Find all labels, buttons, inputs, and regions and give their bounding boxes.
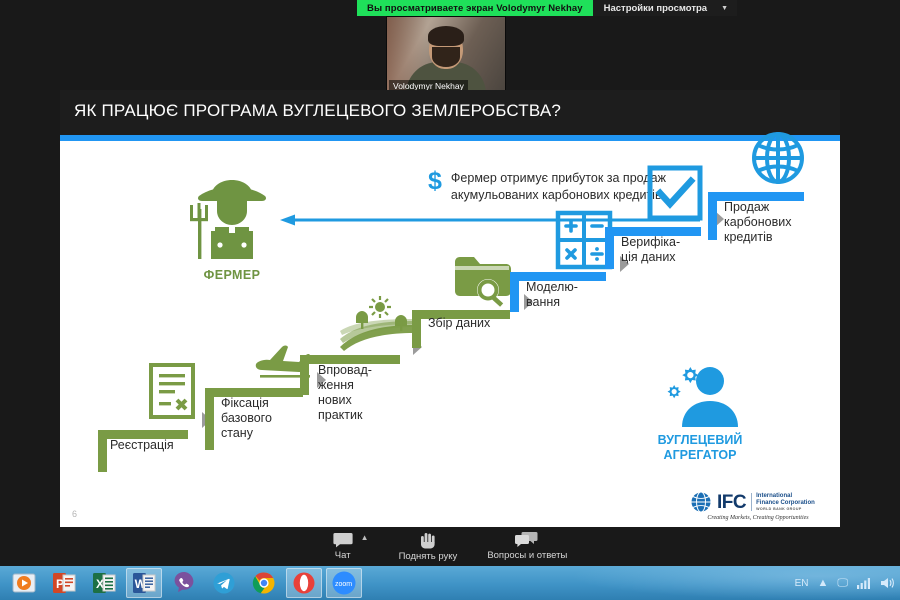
step-caption-modelling: Моделю- вання [526,280,578,310]
ifc-tagline: Creating Markets, Creating Opportunities [690,515,826,521]
farmer-group: ФЕРМЕР [172,175,292,282]
taskbar-item-opera[interactable] [286,568,322,598]
qa-label: Вопросы и ответы [487,550,567,561]
taskbar-item-powerpoint[interactable]: P [46,568,82,598]
view-options-label: Настройки просмотра [604,3,707,14]
telegram-icon [212,571,236,595]
zoom-share-viewer: Вы просматриваете экран Volodymyr Nekhay… [0,0,900,566]
farmer-icon [187,175,277,261]
slide-page-number: 6 [72,509,77,519]
chat-chevron-up-icon[interactable]: ▲ [361,533,369,542]
view-options-button[interactable]: Настройки просмотра ▼ [593,0,737,16]
aggregator-line-1: ВУГЛЕЦЕВИЙ [625,433,775,448]
zoom-icon: zoom [331,570,357,596]
tray-language[interactable]: EN [795,578,809,589]
step-credit-sale: Продаж карбонових кредитів [708,130,840,290]
aggregator-group: ВУГЛЕЦЕВИЙ АГРЕГАТОР [625,365,775,463]
step-caption-credit-sale: Продаж карбонових кредитів [724,200,792,245]
chat-button[interactable]: Чат [333,532,353,561]
farmer-label: ФЕРМЕР [172,268,292,282]
tray-signal-icon[interactable] [857,577,871,589]
participant-video-thumbnail[interactable]: Volodymyr Nekhay [386,16,506,95]
person-gears-icon [648,365,752,427]
tray-volume-icon[interactable] [880,577,894,589]
field-sun-icon [338,295,416,353]
ifc-name-line-2: Finance Corporation [756,500,815,507]
step-caption-new-practices: Впровад- ження нових практик [318,363,372,423]
chevron-down-icon: ▼ [721,5,728,12]
screen-share-banner: Вы просматриваете экран Volodymyr Nekhay… [357,0,737,16]
raise-hand-button[interactable]: Поднять руку [399,531,458,562]
word-icon: W [132,571,156,595]
svg-text:zoom: zoom [335,581,352,588]
raise-hand-label: Поднять руку [399,551,458,562]
ifc-globe-icon [690,491,712,513]
windows-taskbar: P X W [0,566,900,600]
step-caption-data-collection: Збір даних [428,316,490,331]
tray-chevron-up-icon[interactable]: ▲ [818,577,829,589]
chat-label: Чат [335,550,351,561]
ifc-group-label: WORLD BANK GROUP [756,507,815,511]
aggregator-label: ВУГЛЕЦЕВИЙ АГРЕГАТОР [625,433,775,463]
viber-icon [172,571,196,595]
video-person-hair [428,26,464,46]
qa-bubbles-icon [515,532,539,548]
dollar-icon: $ [428,170,442,192]
raise-hand-icon [419,531,437,549]
chat-bubble-icon [333,532,353,548]
taskbar-item-viber[interactable] [166,568,202,598]
taskbar-item-excel[interactable]: X [86,568,122,598]
media-player-icon [12,571,36,595]
checkbox-check-icon [647,165,703,221]
system-tray: EN ▲ 🖵 [795,566,894,600]
chrome-icon [252,571,276,595]
step-caption-baseline: Фіксація базового стану [221,396,272,441]
ifc-logo: IFC International Finance Corporation WO… [690,491,826,521]
globe-icon [750,130,806,186]
slide-title: ЯК ПРАЦЮЄ ПРОГРАМА ВУГЛЕЦЕВОГО ЗЕМЛЕРОБС… [74,101,561,121]
tray-display-icon[interactable]: 🖵 [837,577,848,590]
taskbar-item-word[interactable]: W [126,568,162,598]
share-status-pill: Вы просматриваете экран Volodymyr Nekhay [357,0,593,16]
taskbar-item-chrome[interactable] [246,568,282,598]
taskbar-item-zoom[interactable]: zoom [326,568,362,598]
aggregator-line-2: АГРЕГАТОР [625,448,775,463]
excel-icon: X [92,571,116,595]
step-caption-registration: Реєстрація [110,438,174,453]
powerpoint-icon: P [52,571,76,595]
document-x-icon [148,362,196,420]
taskbar-item-telegram[interactable] [206,568,242,598]
qa-button[interactable]: Вопросы и ответы [487,532,567,561]
step-caption-verification: Верифіка- ція даних [621,235,680,265]
ifc-wordmark: IFC [717,493,746,512]
folder-search-icon [452,250,514,308]
video-person-beard [432,47,460,67]
taskbar-item-media-player[interactable] [6,568,42,598]
presentation-slide: ЯК ПРАЦЮЄ ПРОГРАМА ВУГЛЕЦЕВОГО ЗЕМЛЕРОБС… [60,90,840,527]
zoom-bottom-toolbar: Чат ▲ Поднять руку Вопросы и ответы [0,527,900,566]
opera-icon [292,571,316,595]
